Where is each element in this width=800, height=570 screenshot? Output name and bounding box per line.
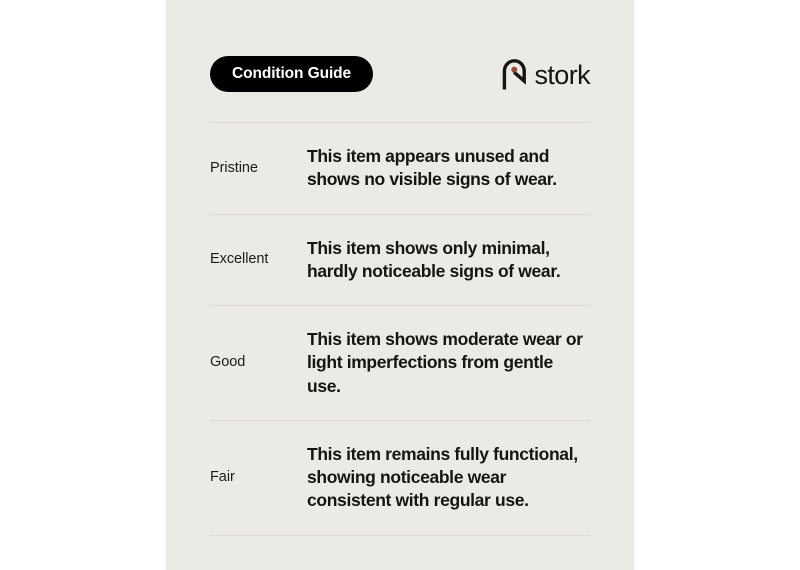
condition-guide-badge: Condition Guide [210, 56, 373, 92]
condition-label: Pristine [210, 160, 307, 177]
condition-guide-card: Condition Guide stork Pristine This item… [166, 0, 634, 570]
stork-logo-icon [501, 58, 527, 90]
row-divider [210, 535, 590, 536]
table-row: Fair This item remains fully functional,… [210, 421, 590, 535]
brand-lockup: stork [501, 57, 590, 91]
condition-label: Good [210, 354, 307, 371]
stork-logo-eye-dot [512, 67, 518, 73]
brand-wordmark: stork [534, 62, 590, 89]
condition-description: This item appears unused and shows no vi… [307, 145, 590, 192]
screenshot-stage: Condition Guide stork Pristine This item… [0, 0, 800, 570]
condition-label: Fair [210, 469, 307, 486]
condition-description: This item shows only minimal, hardly not… [307, 237, 590, 284]
condition-description: This item shows moderate wear or light i… [307, 328, 590, 398]
card-header: Condition Guide stork [210, 56, 590, 92]
table-row: Excellent This item shows only minimal, … [210, 215, 590, 306]
condition-description: This item remains fully functional, show… [307, 443, 590, 513]
table-row: Good This item shows moderate wear or li… [210, 306, 590, 420]
condition-label: Excellent [210, 251, 307, 268]
condition-guide-table: Pristine This item appears unused and sh… [210, 122, 590, 536]
table-row: Pristine This item appears unused and sh… [210, 123, 590, 214]
